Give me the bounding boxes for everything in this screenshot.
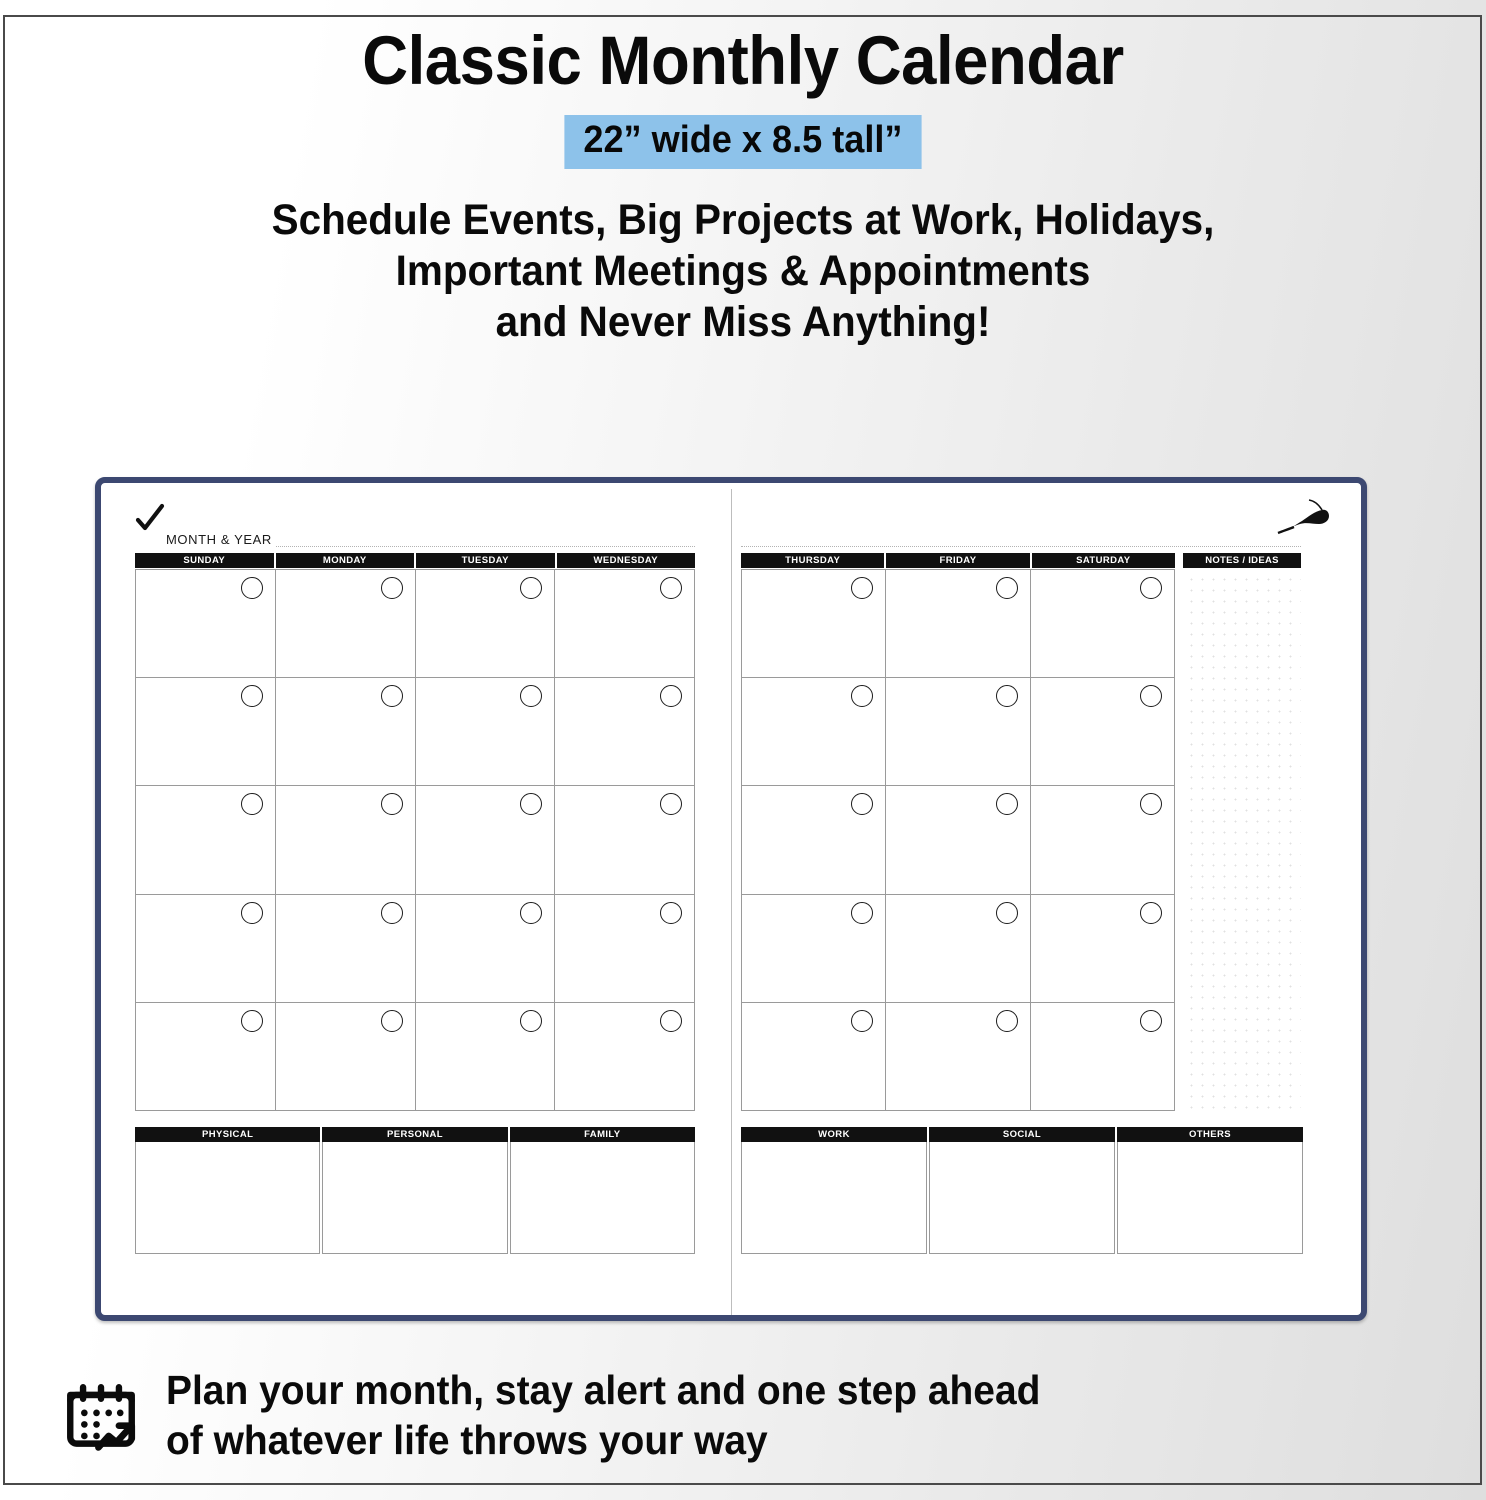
day-cell[interactable] [416,570,556,678]
calendar-spread: MONTH & YEAR SUNDAY MONDAY TUESDAY WEDNE… [95,477,1367,1321]
category-header-others: OTHERS [1117,1127,1303,1142]
month-year-label: MONTH & YEAR [166,533,272,547]
day-cell[interactable] [555,1003,695,1111]
weekday-header-tuesday: TUESDAY [416,553,555,568]
day-cell[interactable] [136,570,276,678]
date-number-circle[interactable] [241,1010,263,1032]
day-cell[interactable] [136,895,276,1003]
day-grid-right [741,569,1175,1111]
day-cell[interactable] [886,1003,1030,1111]
day-cell[interactable] [886,786,1030,894]
day-cell[interactable] [555,570,695,678]
weekday-header-thursday: THURSDAY [741,553,884,568]
date-number-circle[interactable] [851,1010,873,1032]
day-cell[interactable] [136,786,276,894]
tagline-line-1: Schedule Events, Big Projects at Work, H… [45,195,1442,246]
category-others: OTHERS [1117,1127,1303,1254]
date-number-circle[interactable] [851,902,873,924]
date-number-circle[interactable] [520,902,542,924]
category-header-work: WORK [741,1127,927,1142]
day-cell[interactable] [886,570,1030,678]
day-cell[interactable] [416,1003,556,1111]
date-number-circle[interactable] [241,793,263,815]
category-header-social: SOCIAL [929,1127,1115,1142]
weekday-header-sunday: SUNDAY [135,553,274,568]
notes-ideas-dotgrid[interactable] [1183,571,1301,1111]
page-title: Classic Monthly Calendar [59,24,1426,99]
weekday-header-row-right: THURSDAY FRIDAY SATURDAY [741,553,1175,568]
calendar-right-page: THURSDAY FRIDAY SATURDAY NOTES / IDEAS W… [731,483,1361,1315]
date-number-circle[interactable] [1140,902,1162,924]
date-number-circle[interactable] [660,902,682,924]
date-number-circle[interactable] [381,793,403,815]
date-number-circle[interactable] [381,685,403,707]
day-cell[interactable] [276,678,416,786]
month-year-field[interactable]: MONTH & YEAR [135,521,695,547]
category-writearea-personal[interactable] [322,1142,507,1254]
day-cell[interactable] [1031,570,1175,678]
date-number-circle[interactable] [851,685,873,707]
category-physical: PHYSICAL [135,1127,320,1254]
category-writearea-physical[interactable] [135,1142,320,1254]
calendar-trend-icon [60,1377,142,1459]
day-cell[interactable] [742,678,886,786]
day-cell[interactable] [416,786,556,894]
day-cell[interactable] [555,786,695,894]
day-cell[interactable] [276,1003,416,1111]
category-row-left: PHYSICAL PERSONAL FAMILY [135,1127,695,1254]
category-header-personal: PERSONAL [322,1127,507,1142]
day-cell[interactable] [742,1003,886,1111]
date-number-circle[interactable] [520,1010,542,1032]
day-cell[interactable] [276,895,416,1003]
day-cell[interactable] [1031,678,1175,786]
day-cell[interactable] [136,1003,276,1111]
hero-section: Classic Monthly Calendar 22” wide x 8.5 … [0,24,1486,348]
weekday-header-wednesday: WEDNESDAY [557,553,696,568]
category-writearea-family[interactable] [510,1142,695,1254]
calendar-left-page: MONTH & YEAR SUNDAY MONDAY TUESDAY WEDNE… [101,483,731,1315]
date-number-circle[interactable] [1140,577,1162,599]
date-number-circle[interactable] [520,577,542,599]
category-header-family: FAMILY [510,1127,695,1142]
day-cell[interactable] [742,570,886,678]
footer-caption-line-1: Plan your month, stay alert and one step… [166,1365,1040,1415]
date-number-circle[interactable] [520,793,542,815]
footer-caption: Plan your month, stay alert and one step… [166,1365,1040,1465]
day-cell[interactable] [1031,1003,1175,1111]
day-cell[interactable] [276,570,416,678]
day-cell[interactable] [742,786,886,894]
day-cell[interactable] [886,895,1030,1003]
size-badge-wrap: 22” wide x 8.5 tall” [0,115,1486,170]
date-number-circle[interactable] [660,1010,682,1032]
day-cell[interactable] [886,678,1030,786]
category-writearea-social[interactable] [929,1142,1115,1254]
date-number-circle[interactable] [241,577,263,599]
tagline: Schedule Events, Big Projects at Work, H… [45,195,1442,347]
date-number-circle[interactable] [520,685,542,707]
category-personal: PERSONAL [322,1127,507,1254]
calendar-spread-inner: MONTH & YEAR SUNDAY MONDAY TUESDAY WEDNE… [101,483,1361,1315]
date-number-circle[interactable] [851,577,873,599]
day-cell[interactable] [416,678,556,786]
date-number-circle[interactable] [381,1010,403,1032]
date-number-circle[interactable] [851,793,873,815]
category-header-physical: PHYSICAL [135,1127,320,1142]
date-number-circle[interactable] [660,577,682,599]
weekday-header-monday: MONDAY [276,553,415,568]
date-number-circle[interactable] [996,793,1018,815]
day-cell[interactable] [416,895,556,1003]
product-listing-image: Classic Monthly Calendar 22” wide x 8.5 … [0,0,1486,1500]
day-cell[interactable] [555,895,695,1003]
category-family: FAMILY [510,1127,695,1254]
footer-section: Plan your month, stay alert and one step… [60,1355,1440,1475]
date-number-circle[interactable] [996,1010,1018,1032]
month-year-write-line-right[interactable] [741,533,1301,547]
footer-caption-line-2: of whatever life throws your way [166,1415,1040,1465]
tagline-line-2: Important Meetings & Appointments [45,246,1442,297]
notes-ideas-header: NOTES / IDEAS [1183,553,1301,568]
day-cell[interactable] [555,678,695,786]
date-number-circle[interactable] [996,902,1018,924]
category-writearea-others[interactable] [1117,1142,1303,1254]
month-year-write-line[interactable] [276,534,695,547]
size-badge: 22” wide x 8.5 tall” [564,115,921,170]
tagline-line-3: and Never Miss Anything! [45,297,1442,348]
date-number-circle[interactable] [1140,1010,1162,1032]
category-work: WORK [741,1127,927,1254]
date-number-circle[interactable] [381,577,403,599]
weekday-header-friday: FRIDAY [886,553,1029,568]
date-number-circle[interactable] [660,793,682,815]
date-number-circle[interactable] [1140,685,1162,707]
day-cell[interactable] [276,786,416,894]
date-number-circle[interactable] [996,685,1018,707]
day-cell[interactable] [1031,895,1175,1003]
category-writearea-work[interactable] [741,1142,927,1254]
day-cell[interactable] [136,678,276,786]
category-row-right: WORK SOCIAL OTHERS [741,1127,1303,1254]
category-social: SOCIAL [929,1127,1115,1254]
day-grid-left [135,569,695,1111]
weekday-header-row-left: SUNDAY MONDAY TUESDAY WEDNESDAY [135,553,695,568]
date-number-circle[interactable] [241,685,263,707]
day-cell[interactable] [742,895,886,1003]
brand-silhouette-icon [1275,497,1333,539]
date-number-circle[interactable] [996,577,1018,599]
date-number-circle[interactable] [660,685,682,707]
weekday-header-saturday: SATURDAY [1032,553,1175,568]
day-cell[interactable] [1031,786,1175,894]
date-number-circle[interactable] [1140,793,1162,815]
date-number-circle[interactable] [381,902,403,924]
check-icon [135,503,165,533]
date-number-circle[interactable] [241,902,263,924]
